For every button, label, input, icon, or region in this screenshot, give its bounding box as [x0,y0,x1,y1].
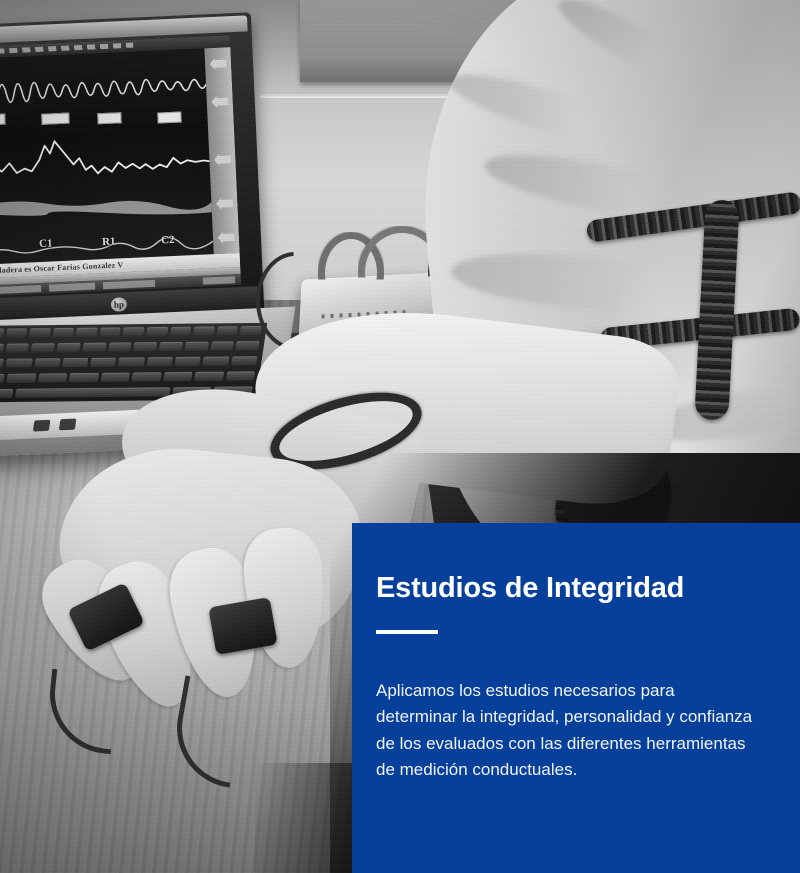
touchpad-button[interactable] [33,420,51,432]
touchpad-button[interactable] [59,419,77,431]
taskbar-item[interactable] [49,283,95,292]
taskbar-item[interactable] [103,280,155,289]
chart-label-c2: C2 [161,234,175,247]
laptop-lid: C1 R1 C2 rdadera es Oscar Farias Gonzale… [0,12,264,324]
chevron-left-icon[interactable] [216,197,234,210]
chart-label-c1: C1 [39,237,53,250]
chevron-left-icon[interactable] [209,57,227,70]
title-underline-rule [376,630,438,634]
annotation-chip [0,113,6,125]
promo-card-screenshot: C1 R1 C2 rdadera es Oscar Farias Gonzale… [0,0,800,873]
chevron-left-icon[interactable] [211,95,229,108]
annotation-chip [41,113,69,125]
laptop: C1 R1 C2 rdadera es Oscar Farias Gonzale… [0,12,283,425]
chart-label-r1: R1 [102,236,116,249]
card-description: Aplicamos los estudios necesarios para d… [376,678,758,783]
polygraph-chart-area: C1 R1 C2 [0,48,214,264]
chevron-left-icon[interactable] [217,231,235,244]
annotation-chip [97,112,121,124]
service-info-card: Estudios de Integridad Aplicamos los est… [352,523,800,873]
taskbar-clock [203,276,235,284]
chevron-left-icon[interactable] [214,153,232,166]
card-title: Estudios de Integridad [376,573,762,605]
respiration-trace [0,56,207,108]
annotation-chip [157,111,181,123]
taskbar-item[interactable] [0,285,41,294]
laptop-screen: C1 R1 C2 rdadera es Oscar Farias Gonzale… [0,35,241,296]
movement-band-trace [0,188,212,226]
cardio-trace [0,120,210,192]
